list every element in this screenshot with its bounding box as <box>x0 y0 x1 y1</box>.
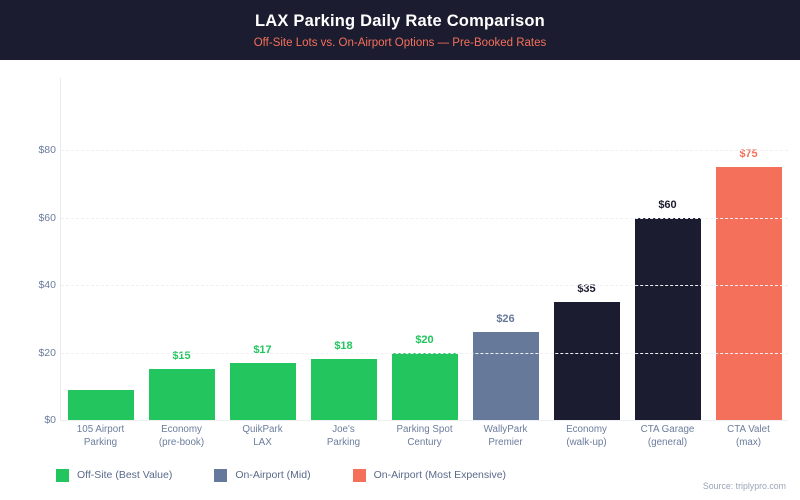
y-axis-tick-label: $40 <box>10 279 56 291</box>
x-axis-category-label: Economy(walk-up) <box>546 424 627 449</box>
legend-item[interactable]: On-Airport (Most Expensive) <box>353 469 506 482</box>
category-label-line2: Century <box>384 437 465 450</box>
gridline <box>61 218 788 219</box>
x-axis-category-label: 105 AirportParking <box>60 424 141 449</box>
x-axis-category-label: Parking SpotCentury <box>384 424 465 449</box>
y-axis-tick-label: $0 <box>10 414 56 426</box>
bar[interactable] <box>311 359 377 420</box>
gridline <box>61 353 788 354</box>
bar[interactable] <box>716 167 782 420</box>
legend-item-label: On-Airport (Most Expensive) <box>374 469 506 482</box>
category-label-line1: Economy <box>546 424 627 437</box>
bar-group[interactable]: $60CTA Garage(general) <box>627 60 708 420</box>
bar-group[interactable]: $18Joe'sParking <box>303 60 384 420</box>
bar-group[interactable]: $17QuikParkLAX <box>222 60 303 420</box>
legend-item[interactable]: On-Airport (Mid) <box>214 469 310 482</box>
x-axis-category-label: Economy(pre-book) <box>141 424 222 449</box>
category-label-line2: Parking <box>60 437 141 450</box>
category-label-line1: CTA Valet <box>708 424 789 437</box>
bar-group[interactable]: $15Economy(pre-book) <box>141 60 222 420</box>
gridline <box>61 150 788 151</box>
bar[interactable] <box>230 363 296 420</box>
category-label-line1: 105 Airport <box>60 424 141 437</box>
category-label-line1: Parking Spot <box>384 424 465 437</box>
category-label-line1: Joe's <box>303 424 384 437</box>
bar-value-label: $18 <box>303 340 384 353</box>
bar-value-label: $20 <box>384 334 465 347</box>
chart-subtitle: Off-Site Lots vs. On-Airport Options — P… <box>254 36 547 50</box>
category-label-line1: WallyPark <box>465 424 546 437</box>
category-label-line1: CTA Garage <box>627 424 708 437</box>
category-label-line2: (walk-up) <box>546 437 627 450</box>
bar[interactable] <box>473 332 539 420</box>
legend-item-label: On-Airport (Mid) <box>235 469 310 482</box>
legend-color-swatch <box>214 469 227 482</box>
legend-item-label: Off-Site (Best Value) <box>77 469 172 482</box>
bar-group[interactable]: $26WallyParkPremier <box>465 60 546 420</box>
bar-group[interactable]: 105 AirportParking <box>60 60 141 420</box>
bar-value-label: $60 <box>627 199 708 212</box>
category-label-line2: LAX <box>222 437 303 450</box>
page-title: LAX Parking Daily Rate Comparison <box>255 11 545 31</box>
category-label-line1: QuikPark <box>222 424 303 437</box>
y-axis-tick-label: $60 <box>10 212 56 224</box>
category-label-line2: (general) <box>627 437 708 450</box>
x-axis-category-label: CTA Valet(max) <box>708 424 789 449</box>
bar-group[interactable]: $20Parking SpotCentury <box>384 60 465 420</box>
bar[interactable] <box>68 390 134 420</box>
chart-header: LAX Parking Daily Rate Comparison Off-Si… <box>0 0 800 60</box>
category-label-line2: Premier <box>465 437 546 450</box>
gridline <box>61 285 788 286</box>
x-axis-category-label: CTA Garage(general) <box>627 424 708 449</box>
legend-item[interactable]: Off-Site (Best Value) <box>56 469 172 482</box>
bar[interactable] <box>149 369 215 420</box>
legend-color-swatch <box>56 469 69 482</box>
x-axis-category-label: Joe'sParking <box>303 424 384 449</box>
category-label-line1: Economy <box>141 424 222 437</box>
bar[interactable] <box>554 302 620 420</box>
category-label-line2: (pre-book) <box>141 437 222 450</box>
bar[interactable] <box>635 218 701 421</box>
x-axis-category-label: QuikParkLAX <box>222 424 303 449</box>
y-axis-tick-label: $80 <box>10 144 56 156</box>
x-axis-category-label: WallyParkPremier <box>465 424 546 449</box>
category-label-line2: Parking <box>303 437 384 450</box>
source-attribution: Source: triplypro.com <box>703 481 786 492</box>
bar-value-label: $26 <box>465 313 546 326</box>
chart-legend: Off-Site (Best Value)On-Airport (Mid)On-… <box>0 465 800 485</box>
chart-plot-area: $0$20$40$60$80 105 AirportParking$15Econ… <box>0 60 800 500</box>
bar[interactable] <box>392 353 458 421</box>
y-axis-tick-labels: $0$20$40$60$80 <box>0 60 56 500</box>
category-label-line2: (max) <box>708 437 789 450</box>
legend-color-swatch <box>353 469 366 482</box>
bar-group[interactable]: $75CTA Valet(max) <box>708 60 789 420</box>
bar-series-group: 105 AirportParking$15Economy(pre-book)$1… <box>60 60 788 500</box>
y-axis-tick-label: $20 <box>10 347 56 359</box>
bar-value-label: $17 <box>222 344 303 357</box>
bar-group[interactable]: $35Economy(walk-up) <box>546 60 627 420</box>
